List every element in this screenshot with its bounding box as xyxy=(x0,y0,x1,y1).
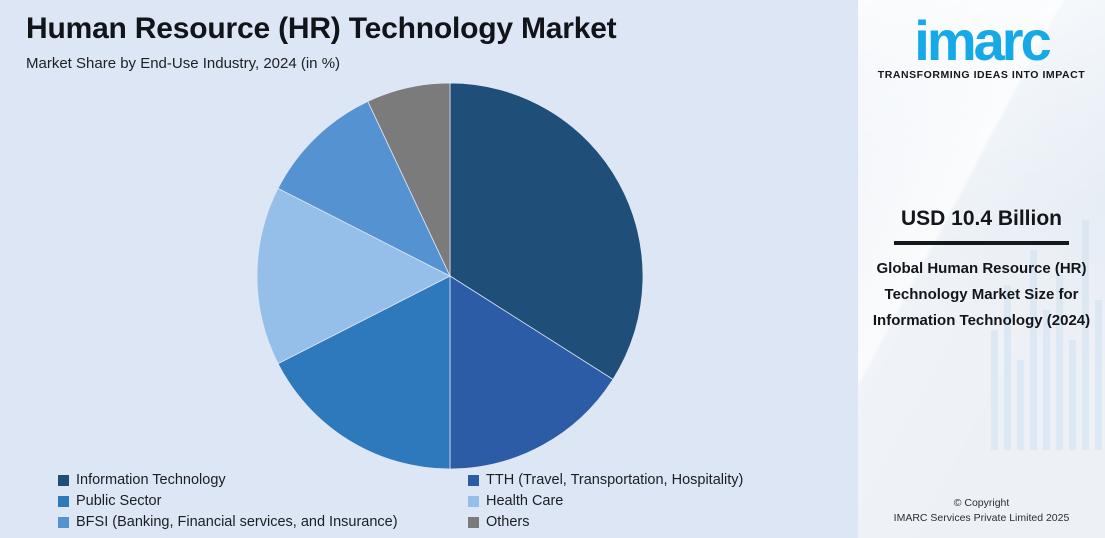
pie-chart xyxy=(255,81,645,471)
legend-swatch-icon xyxy=(58,517,69,528)
legend-item-label: Public Sector xyxy=(76,491,161,511)
market-value: USD 10.4 Billion xyxy=(858,207,1105,231)
legend-item-label: Health Care xyxy=(486,491,563,511)
chart-subtitle: Market Share by End-Use Industry, 2024 (… xyxy=(26,55,340,72)
background-bar-decor xyxy=(991,330,998,450)
legend-column-right: TTH (Travel, Transportation, Hospitality… xyxy=(468,470,743,533)
legend-item-label: Information Technology xyxy=(76,470,226,490)
legend-item-label: Others xyxy=(486,512,530,532)
background-bar-decor xyxy=(1095,300,1102,450)
legend-swatch-icon xyxy=(468,517,479,528)
market-description: Global Human Resource (HR) Technology Ma… xyxy=(870,256,1093,334)
pie-slice-group xyxy=(257,83,643,469)
legend-swatch-icon xyxy=(468,475,479,486)
legend-item[interactable]: BFSI (Banking, Financial services, and I… xyxy=(58,512,398,532)
legend-item[interactable]: Others xyxy=(468,512,743,532)
page-title: Human Resource (HR) Technology Market xyxy=(26,12,616,46)
chart-panel: Human Resource (HR) Technology Market Ma… xyxy=(0,0,858,538)
legend-column-left: Information Technology Public Sector BFS… xyxy=(58,470,398,533)
chart-legend: Information Technology Public Sector BFS… xyxy=(58,470,848,534)
legend-item-label: BFSI (Banking, Financial services, and I… xyxy=(76,512,398,532)
value-underline xyxy=(894,241,1069,245)
infographic-canvas: Human Resource (HR) Technology Market Ma… xyxy=(0,0,1105,538)
legend-swatch-icon xyxy=(58,475,69,486)
pie-chart-svg xyxy=(255,81,645,471)
brand-logo: imarc TRANSFORMING IDEAS INTO IMPACT xyxy=(858,14,1105,81)
background-bar-decor xyxy=(1017,360,1024,450)
legend-item[interactable]: Health Care xyxy=(468,491,743,511)
copyright-line-1: © Copyright xyxy=(858,496,1105,511)
background-bar-decor xyxy=(1082,220,1089,450)
legend-item[interactable]: TTH (Travel, Transportation, Hospitality… xyxy=(468,470,743,490)
copyright-notice: © Copyright IMARC Services Private Limit… xyxy=(858,496,1105,526)
imarc-logo-icon: imarc xyxy=(914,14,1048,67)
legend-item-label: TTH (Travel, Transportation, Hospitality… xyxy=(486,470,743,490)
legend-item[interactable]: Public Sector xyxy=(58,491,398,511)
legend-item[interactable]: Information Technology xyxy=(58,470,398,490)
info-panel: imarc TRANSFORMING IDEAS INTO IMPACT USD… xyxy=(858,0,1105,538)
background-bar-decor xyxy=(1069,340,1076,450)
legend-swatch-icon xyxy=(468,496,479,507)
legend-swatch-icon xyxy=(58,496,69,507)
copyright-line-2: IMARC Services Private Limited 2025 xyxy=(858,511,1105,526)
